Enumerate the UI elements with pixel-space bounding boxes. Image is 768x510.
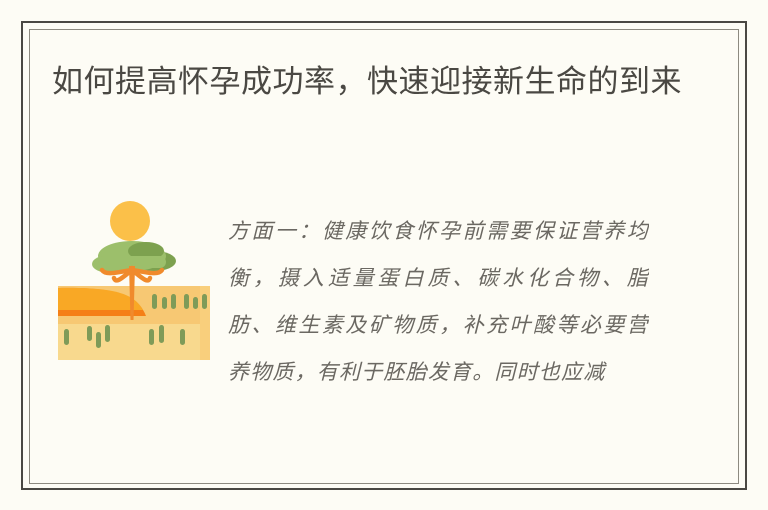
article-body: 方面一：健康饮食怀孕前需要保证营养均衡，摄入适量蛋白质、碳水化合物、脂肪、维生素… <box>228 208 649 476</box>
savanna-illustration <box>58 198 210 360</box>
sun-icon <box>110 201 150 241</box>
article-card: 如何提高怀孕成功率，快速迎接新生命的到来 <box>0 0 768 510</box>
article-title: 如何提高怀孕成功率，快速迎接新生命的到来 <box>52 58 692 106</box>
article-content: 方面一：健康饮食怀孕前需要保证营养均衡，摄入适量蛋白质、碳水化合物、脂肪、维生素… <box>0 196 768 486</box>
